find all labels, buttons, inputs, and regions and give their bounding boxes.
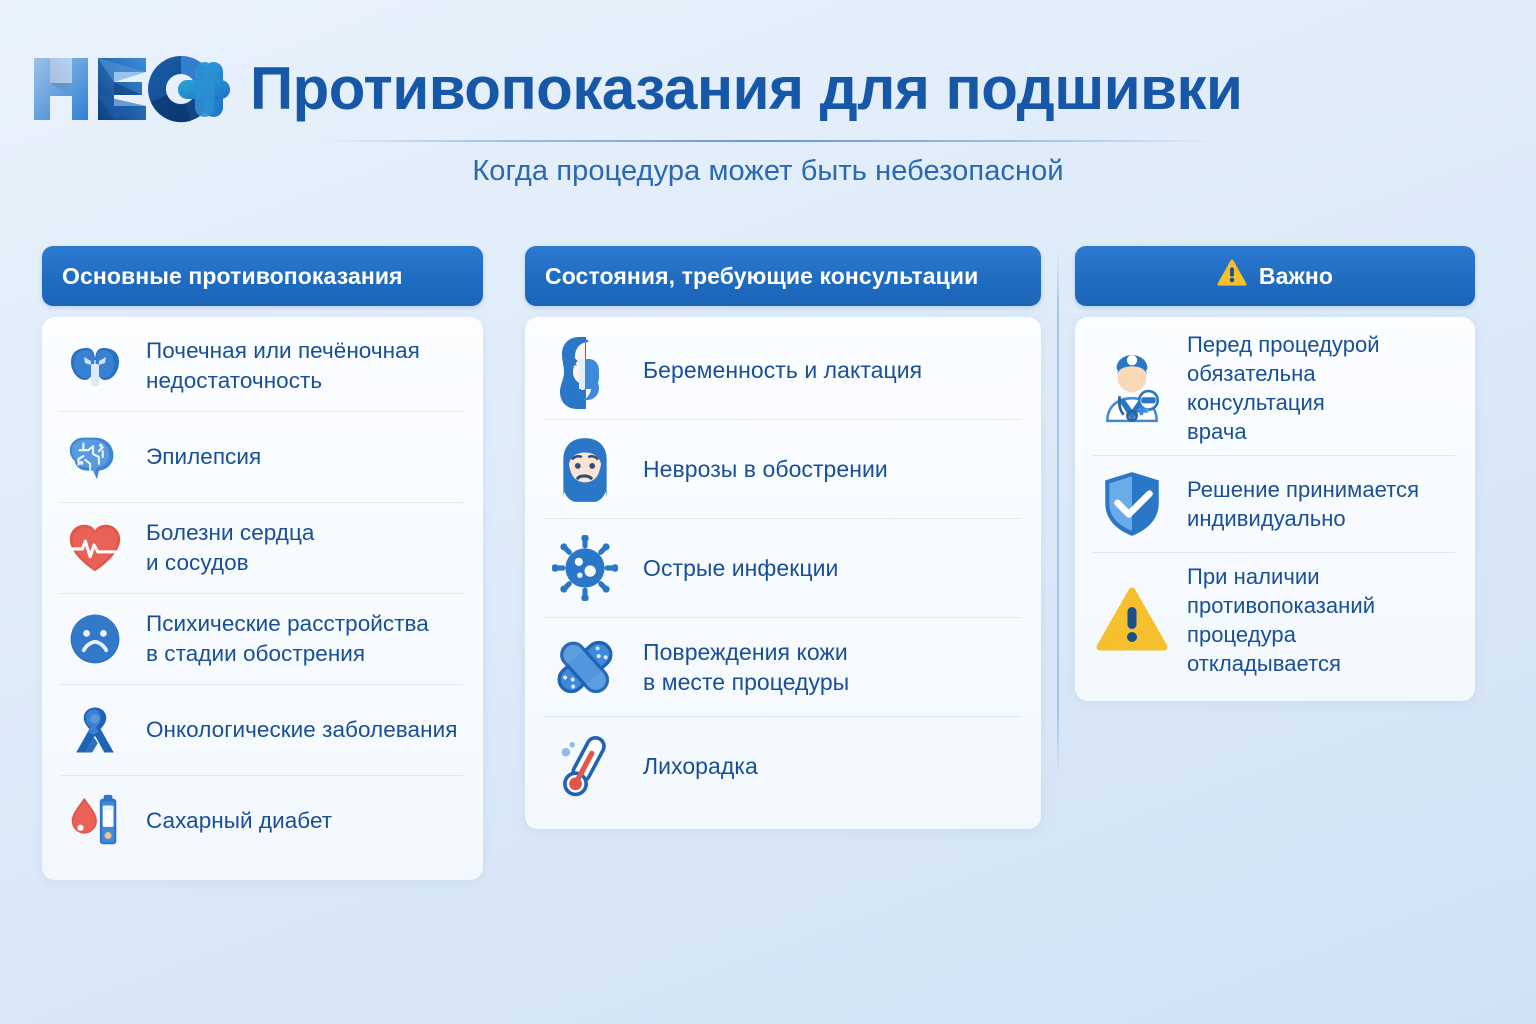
list-item-label: Острые инфекции	[643, 553, 838, 583]
list-item[interactable]: Болезни сердца и сосудов	[60, 503, 463, 594]
card-body-main-contraindications: Почечная или печёночная недостаточность …	[42, 317, 483, 880]
card-body-important: Перед процедурой обязательна консультаци…	[1075, 317, 1475, 701]
page-header: Противопоказания для подшивки Когда проц…	[0, 0, 1536, 205]
brand-logo	[30, 50, 245, 128]
page-subtitle: Когда процедура может быть небезопасной	[0, 155, 1536, 188]
list-item-label: Болезни сердца и сосудов	[146, 518, 314, 577]
kidneys-icon	[60, 330, 130, 402]
list-item[interactable]: Острые инфекции	[543, 519, 1021, 618]
card-title-label: Важно	[1259, 263, 1333, 290]
list-item[interactable]: Неврозы в обострении	[543, 420, 1021, 519]
card-body-consultation-required: Беременность и лактация Неврозы в обостр…	[525, 317, 1041, 829]
virus-icon	[543, 528, 627, 608]
list-item-label: Онкологические заболевания	[146, 715, 457, 745]
card-header-main-contraindications: Основные противопоказания	[42, 246, 483, 306]
list-item[interactable]: Эпилепсия	[60, 412, 463, 503]
card-important: Важно	[1075, 246, 1475, 701]
shield-check-icon	[1093, 465, 1171, 543]
list-item-label: Беременность и лактация	[643, 355, 922, 385]
pregnant-woman-icon	[543, 330, 627, 410]
thermometer-icon	[543, 726, 627, 806]
doctor-icon	[1093, 349, 1171, 427]
list-item-label: Сахарный диабет	[146, 806, 332, 836]
brain-icon	[60, 421, 130, 493]
heart-pulse-icon	[60, 512, 130, 584]
card-main-contraindications: Основные противопоказания Почечная или п…	[42, 246, 483, 880]
page-title: Противопоказания для подшивки	[250, 53, 1242, 125]
list-item-label: Психические расстройства в стадии обостр…	[146, 609, 429, 668]
column-divider	[1057, 248, 1059, 776]
list-item[interactable]: Решение принимается индивидуально	[1093, 456, 1455, 553]
list-item-label: Решение принимается индивидуально	[1187, 475, 1419, 533]
list-item[interactable]: Лихорадка	[543, 717, 1021, 815]
list-item[interactable]: Психические расстройства в стадии обостр…	[60, 594, 463, 685]
card-consultation-required: Состояния, требующие консультации Береме…	[525, 246, 1041, 829]
list-item[interactable]: Беременность и лактация	[543, 321, 1021, 420]
bandage-icon	[543, 627, 627, 707]
list-item-label: При наличии противопоказаний процедура о…	[1187, 562, 1455, 678]
list-item[interactable]: Сахарный диабет	[60, 776, 463, 866]
blood-glucose-icon	[60, 785, 130, 857]
card-title-label: Состояния, требующие консультации	[545, 263, 978, 290]
warning-triangle-icon	[1217, 259, 1247, 293]
warning-triangle-icon	[1093, 581, 1171, 659]
list-item[interactable]: Повреждения кожи в месте процедуры	[543, 618, 1021, 717]
anxious-woman-icon	[543, 429, 627, 509]
card-title-label: Основные противопоказания	[62, 263, 403, 290]
list-item[interactable]: При наличии противопоказаний процедура о…	[1093, 553, 1455, 687]
sad-face-icon	[60, 603, 130, 675]
card-header-important: Важно	[1075, 246, 1475, 306]
list-item-label: Повреждения кожи в месте процедуры	[643, 637, 849, 698]
list-item[interactable]: Перед процедурой обязательна консультаци…	[1093, 321, 1455, 456]
title-divider	[320, 140, 1220, 142]
list-item-label: Почечная или печёночная недостаточность	[146, 336, 420, 395]
list-item-label: Перед процедурой обязательна консультаци…	[1187, 330, 1455, 446]
list-item[interactable]: Почечная или печёночная недостаточность	[60, 321, 463, 412]
list-item-label: Лихорадка	[643, 751, 758, 781]
awareness-ribbon-icon	[60, 694, 130, 766]
list-item-label: Неврозы в обострении	[643, 454, 888, 484]
card-header-consultation-required: Состояния, требующие консультации	[525, 246, 1041, 306]
list-item-label: Эпилепсия	[146, 442, 261, 472]
list-item[interactable]: Онкологические заболевания	[60, 685, 463, 776]
neo-plus-logo-icon	[30, 50, 245, 128]
